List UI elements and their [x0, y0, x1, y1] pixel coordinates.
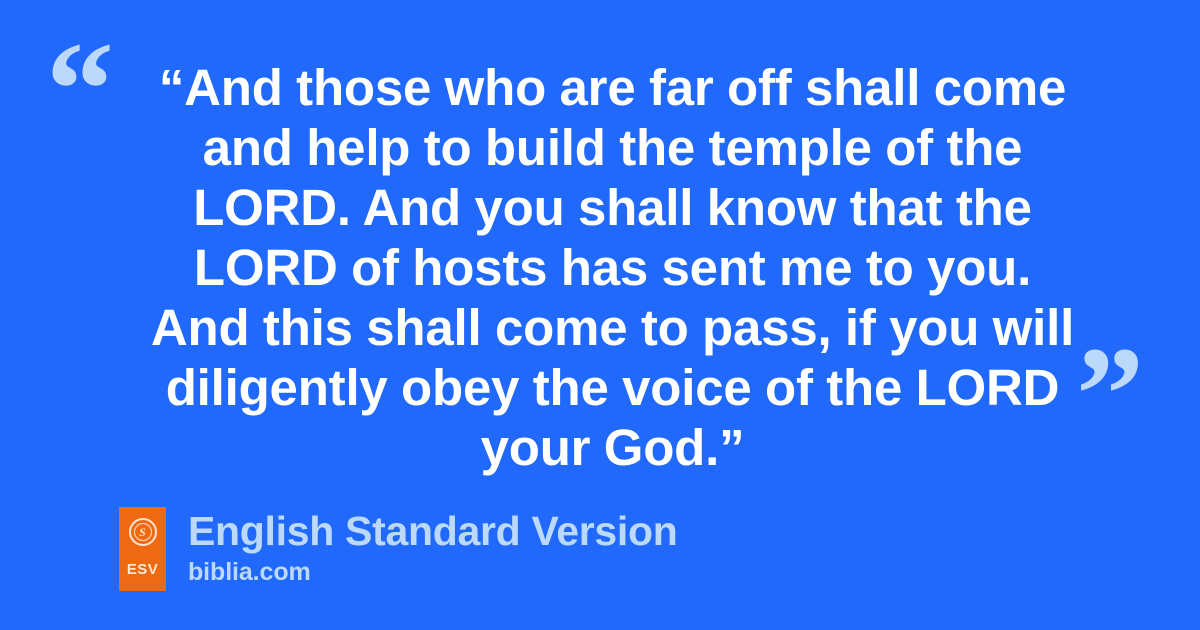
attribution[interactable]: S ESV English Standard Version biblia.co… [119, 507, 677, 591]
esv-logo[interactable]: S ESV [119, 507, 166, 591]
translation-name: English Standard Version [188, 507, 677, 555]
attribution-text: English Standard Version biblia.com [188, 507, 677, 587]
close-quote-icon: ” [1076, 327, 1142, 463]
verse-text: “And those who are far off shall come an… [150, 58, 1075, 478]
esv-seal-icon: S [129, 518, 157, 546]
verse-block: “And those who are far off shall come an… [150, 58, 1075, 478]
esv-seal-monogram: S [134, 523, 152, 541]
esv-logo-label: ESV [127, 562, 158, 577]
open-quote-icon: “ [46, 22, 112, 158]
site-url[interactable]: biblia.com [188, 557, 677, 587]
verse-image-card: “ “And those who are far off shall come … [0, 0, 1200, 630]
